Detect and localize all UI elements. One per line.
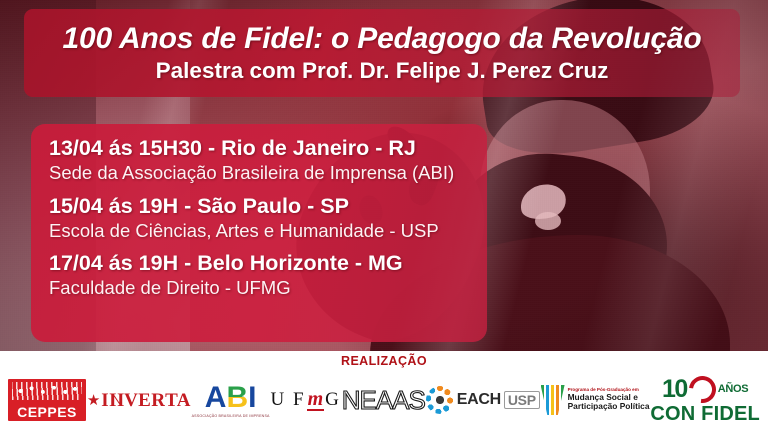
sponsor-logo-row: CEPPES ★ IИVEЯTA A B I ASSOCIAÇÃO BRASIL… bbox=[0, 370, 768, 430]
logo-each-usp: EACH USP bbox=[426, 386, 540, 414]
logo-neaas: NEAAS bbox=[342, 387, 425, 413]
title-panel: 100 Anos de Fidel: o Pedagogo da Revoluç… bbox=[24, 9, 740, 97]
fidel-con-fidel-label: CON FIDEL bbox=[650, 404, 760, 424]
event-headline: 15/04 ás 19H - São Paulo - SP bbox=[49, 194, 487, 219]
usp-label: USP bbox=[504, 391, 540, 409]
each-label: EACH bbox=[457, 392, 501, 408]
ppg-line-2: Participação Política bbox=[568, 402, 650, 411]
event-venue: Escola de Ciências, Artes e Humanidade -… bbox=[49, 220, 487, 242]
abi-letter-i: I bbox=[248, 383, 256, 413]
sponsor-footer: REALIZAÇÃO CEPPES ★ IИVEЯTA A B bbox=[0, 351, 768, 432]
logo-ufmg: U F m G bbox=[271, 389, 341, 411]
ufmg-letters-uf: U F bbox=[271, 390, 306, 409]
logo-100-anos-con-fidel: 10 AÑOS CON FIDEL bbox=[650, 376, 760, 424]
fidel-number: 10 bbox=[662, 377, 687, 402]
ufmg-letter-g: G bbox=[325, 390, 341, 409]
ufmg-letter-m: m bbox=[307, 389, 325, 411]
ceppes-emblem-icon bbox=[12, 382, 82, 400]
event-item: 17/04 ás 19H - Belo Horizonte - MG Facul… bbox=[49, 251, 487, 300]
event-venue: Sede da Associação Brasileira de Imprens… bbox=[49, 162, 487, 184]
neaas-label: NEAAS bbox=[342, 387, 425, 413]
fidel-anos-label: AÑOS bbox=[718, 384, 749, 395]
logo-ppg-mudanca-social: Programa de Pós-Graduação em Mudança Soc… bbox=[541, 385, 650, 415]
logo-abi: A B I ASSOCIAÇÃO BRASILEIRA DE IMPRENSA bbox=[192, 383, 270, 418]
event-venue: Faculdade de Direito - UFMG bbox=[49, 277, 487, 299]
event-headline: 13/04 ás 15H30 - Rio de Janeiro - RJ bbox=[49, 136, 487, 161]
logo-inverta: ★ IИVEЯTA bbox=[87, 391, 191, 410]
inverta-label: IИVEЯTA bbox=[101, 391, 190, 410]
event-item: 13/04 ás 15H30 - Rio de Janeiro - RJ Sed… bbox=[49, 136, 487, 185]
events-panel: 13/04 ás 15H30 - Rio de Janeiro - RJ Sed… bbox=[31, 124, 487, 342]
event-headline: 17/04 ás 19H - Belo Horizonte - MG bbox=[49, 251, 487, 276]
ceppes-label: CEPPES bbox=[17, 405, 77, 419]
logo-ceppes: CEPPES bbox=[8, 379, 86, 421]
abi-letter-b: B bbox=[226, 383, 248, 413]
star-icon: ★ bbox=[87, 393, 100, 408]
poster-title: 100 Anos de Fidel: o Pedagogo da Revoluç… bbox=[63, 23, 702, 55]
event-poster: 100 Anos de Fidel: o Pedagogo da Revoluç… bbox=[0, 0, 768, 432]
realizacao-label: REALIZAÇÃO bbox=[0, 351, 768, 368]
each-dotted-circle-icon bbox=[426, 386, 454, 414]
event-item: 15/04 ás 19H - São Paulo - SP Escola de … bbox=[49, 194, 487, 243]
poster-subtitle: Palestra com Prof. Dr. Felipe J. Perez C… bbox=[156, 59, 609, 83]
ppg-ribbon-icon bbox=[541, 385, 565, 415]
abi-letter-a: A bbox=[205, 383, 227, 413]
abi-subtitle: ASSOCIAÇÃO BRASILEIRA DE IMPRENSA bbox=[192, 414, 270, 418]
